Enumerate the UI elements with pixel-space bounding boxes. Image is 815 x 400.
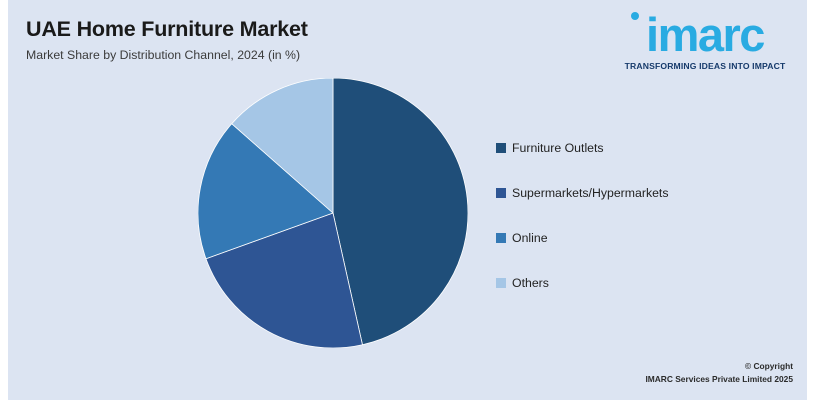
legend-label: Supermarkets/Hypermarkets xyxy=(512,186,669,200)
header: UAE Home Furniture Market Market Share b… xyxy=(26,16,586,64)
legend-item-others[interactable]: Others xyxy=(496,276,669,290)
logo-dot-icon xyxy=(631,12,639,20)
footer: © Copyright IMARC Services Private Limit… xyxy=(645,360,793,386)
pie-slice-group xyxy=(198,78,468,348)
company-text: IMARC Services Private Limited 2025 xyxy=(645,373,793,386)
legend-label: Others xyxy=(512,276,549,290)
logo-wordmark-label: imarc xyxy=(646,8,764,61)
legend-swatch-icon xyxy=(496,188,506,198)
imarc-logo: imarc TRANSFORMING IDEAS INTO IMPACT xyxy=(617,10,793,71)
left-gutter xyxy=(0,0,8,400)
legend-swatch-icon xyxy=(496,278,506,288)
legend-item-supermarkets-hypermarkets[interactable]: Supermarkets/Hypermarkets xyxy=(496,186,669,200)
legend-item-online[interactable]: Online xyxy=(496,231,669,245)
logo-wordmark-text: imarc xyxy=(617,10,793,60)
legend-label: Online xyxy=(512,231,548,245)
copyright-text: © Copyright xyxy=(645,360,793,373)
legend-swatch-icon xyxy=(496,233,506,243)
legend-item-furniture-outlets[interactable]: Furniture Outlets xyxy=(496,141,669,155)
page-title: UAE Home Furniture Market xyxy=(26,16,586,42)
chart-legend: Furniture Outlets Supermarkets/Hypermark… xyxy=(496,141,669,290)
legend-swatch-icon xyxy=(496,143,506,153)
page-subtitle: Market Share by Distribution Channel, 20… xyxy=(26,46,586,64)
right-gutter xyxy=(807,0,815,400)
logo-tagline: TRANSFORMING IDEAS INTO IMPACT xyxy=(617,61,793,71)
pie-chart-svg xyxy=(198,78,468,348)
legend-label: Furniture Outlets xyxy=(512,141,604,155)
infographic-canvas: UAE Home Furniture Market Market Share b… xyxy=(0,0,815,400)
pie-chart xyxy=(198,78,468,348)
